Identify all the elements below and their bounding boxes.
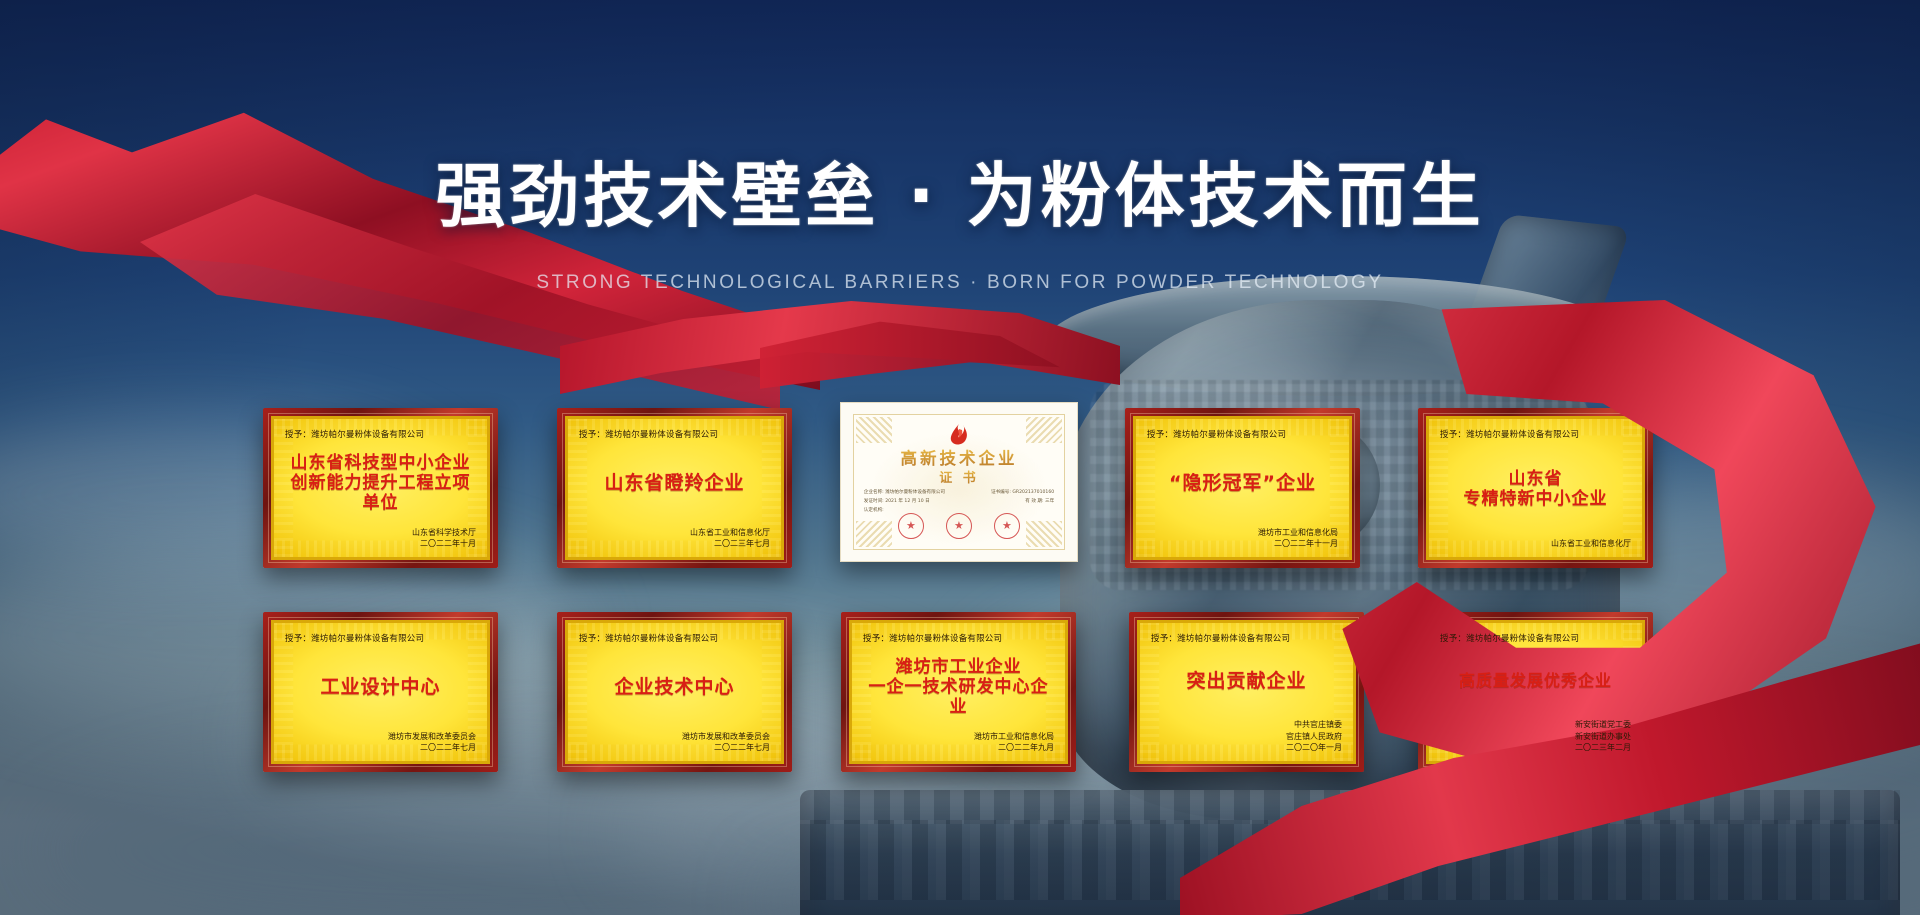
ornament-corner-icon (856, 417, 892, 443)
plaque-title-line: 一企一技术研发中心企业 (863, 677, 1054, 717)
plaque-title-line: 企业技术中心 (579, 676, 770, 698)
certificate-subtitle: 证 书 (854, 467, 1064, 486)
plaque-title-line: 山东省 (1440, 469, 1631, 489)
plaque-title-line: 工业设计中心 (285, 676, 476, 698)
plaque-footer: 山东省工业和信息化厅 (1440, 538, 1631, 550)
plaque-issuer-secondary: 官庄镇人民政府 (1151, 731, 1342, 743)
plaque-title-line: “隐形冠军”企业 (1147, 472, 1338, 494)
plaque-title: 山东省科技型中小企业 创新能力提升工程立项单位 (285, 453, 476, 513)
plaque-frame: 授予：潍坊帕尔曼粉体设备有限公司 山东省 专精特新中小企业 山东省工业和信息化厅 (1418, 408, 1653, 568)
field-label: 证书编号: (991, 490, 1011, 495)
plaque-issuer: 潍坊市工业和信息化局 (1147, 527, 1338, 539)
plaque-title: 高质量发展优秀企业 (1440, 672, 1631, 691)
plaque-frame: 授予：潍坊帕尔曼粉体设备有限公司 山东省科技型中小企业 创新能力提升工程立项单位… (263, 408, 498, 568)
plaque-face: 授予：潍坊帕尔曼粉体设备有限公司 工业设计中心 潍坊市发展和改革委员会 二〇二二… (271, 620, 490, 764)
plaque-industrial-design-center[interactable]: 授予：潍坊帕尔曼粉体设备有限公司 工业设计中心 潍坊市发展和改革委员会 二〇二二… (263, 612, 498, 772)
plaque-footer: 山东省科学技术厅 二〇二二年十月 (285, 527, 476, 550)
plaque-award-label: 授予：潍坊帕尔曼粉体设备有限公司 (579, 428, 770, 440)
red-seal-icon: ★ (946, 513, 972, 539)
plaque-footer: 山东省工业和信息化厅 二〇二三年七月 (579, 527, 770, 550)
plaque-date: 二〇二二年十月 (285, 538, 476, 550)
certificate-inner: 高新技术企业 证 书 企业名称: 潍坊帕尔曼粉体设备有限公司 证书编号: GR2… (853, 414, 1065, 550)
plaque-title-line: 山东省科技型中小企业 (285, 453, 476, 473)
plaque-award-label: 授予：潍坊帕尔曼粉体设备有限公司 (1440, 632, 1631, 644)
plaque-issuer: 中共官庄镇委 (1151, 719, 1342, 731)
plaque-title: 企业技术中心 (579, 676, 770, 698)
plaque-date: 二〇二二年七月 (579, 742, 770, 754)
plaque-footer: 潍坊市工业和信息化局 二〇二二年十一月 (1147, 527, 1338, 550)
plaque-face: 授予：潍坊帕尔曼粉体设备有限公司 “隐形冠军”企业 潍坊市工业和信息化局 二〇二… (1133, 416, 1352, 560)
plaque-one-enterprise-one-tech-rd-center[interactable]: 授予：潍坊帕尔曼粉体设备有限公司 潍坊市工业企业 一企一技术研发中心企业 潍坊市… (841, 612, 1076, 772)
certificate-seals: ★ ★ ★ (854, 513, 1064, 539)
certificate-fields: 企业名称: 潍坊帕尔曼粉体设备有限公司 证书编号: GR202137010160… (864, 489, 1054, 515)
plaque-frame: 授予：潍坊帕尔曼粉体设备有限公司 企业技术中心 潍坊市发展和改革委员会 二〇二二… (557, 612, 792, 772)
plaque-face: 授予：潍坊帕尔曼粉体设备有限公司 山东省瞪羚企业 山东省工业和信息化厅 二〇二三… (565, 416, 784, 560)
plaque-title: 山东省 专精特新中小企业 (1440, 469, 1631, 509)
plaque-award-label: 授予：潍坊帕尔曼粉体设备有限公司 (1151, 632, 1342, 644)
plaque-date: 二〇二二年七月 (285, 742, 476, 754)
field-label: 发证时间: (864, 499, 884, 504)
page-title: 强劲技术壁垒 · 为粉体技术而生 (0, 140, 1920, 241)
plaque-issuer: 潍坊市发展和改革委员会 (285, 731, 476, 743)
plaque-frame: 授予：潍坊帕尔曼粉体设备有限公司 “隐形冠军”企业 潍坊市工业和信息化局 二〇二… (1125, 408, 1360, 568)
plaque-issuer: 潍坊市发展和改革委员会 (579, 731, 770, 743)
plaque-frame: 授予：潍坊帕尔曼粉体设备有限公司 潍坊市工业企业 一企一技术研发中心企业 潍坊市… (841, 612, 1076, 772)
plaque-award-label: 授予：潍坊帕尔曼粉体设备有限公司 (285, 428, 476, 440)
red-seal-icon: ★ (994, 513, 1020, 539)
high-tech-enterprise-certificate[interactable]: 高新技术企业 证 书 企业名称: 潍坊帕尔曼粉体设备有限公司 证书编号: GR2… (840, 402, 1078, 562)
plaque-title-line: 突出贡献企业 (1151, 670, 1342, 692)
plaque-title: 突出贡献企业 (1151, 670, 1342, 692)
plaque-face: 授予：潍坊帕尔曼粉体设备有限公司 山东省 专精特新中小企业 山东省工业和信息化厅 (1426, 416, 1645, 560)
plaque-date: 二〇二三年二月 (1440, 742, 1631, 754)
field-value: 三年 (1045, 499, 1054, 504)
ornament-corner-icon (1026, 417, 1062, 443)
plaque-footer: 新安街道党工委 新安街道办事处 二〇二三年二月 (1440, 719, 1631, 754)
plaque-face: 授予：潍坊帕尔曼粉体设备有限公司 突出贡献企业 中共官庄镇委 官庄镇人民政府 二… (1137, 620, 1356, 764)
plaque-title-line: 专精特新中小企业 (1440, 489, 1631, 509)
plaque-award-label: 授予：潍坊帕尔曼粉体设备有限公司 (285, 632, 476, 644)
plaque-date: 二〇二三年七月 (579, 538, 770, 550)
plaque-issuer-secondary: 新安街道办事处 (1440, 731, 1631, 743)
plaque-frame: 授予：潍坊帕尔曼粉体设备有限公司 山东省瞪羚企业 山东省工业和信息化厅 二〇二三… (557, 408, 792, 568)
plaque-title: “隐形冠军”企业 (1147, 472, 1338, 494)
plaque-title: 工业设计中心 (285, 676, 476, 698)
plaque-face: 授予：潍坊帕尔曼粉体设备有限公司 潍坊市工业企业 一企一技术研发中心企业 潍坊市… (849, 620, 1068, 764)
certificate-title: 高新技术企业 (854, 445, 1064, 469)
plaque-title: 潍坊市工业企业 一企一技术研发中心企业 (863, 657, 1054, 717)
plaque-award-label: 授予：潍坊帕尔曼粉体设备有限公司 (1440, 428, 1631, 440)
field-value: 潍坊帕尔曼粉体设备有限公司 (885, 490, 945, 495)
plaque-footer: 潍坊市工业和信息化局 二〇二二年九月 (863, 731, 1054, 754)
field-label: 企业名称: (864, 490, 884, 495)
plaque-footer: 潍坊市发展和改革委员会 二〇二二年七月 (285, 731, 476, 754)
plaque-face: 授予：潍坊帕尔曼粉体设备有限公司 山东省科技型中小企业 创新能力提升工程立项单位… (271, 416, 490, 560)
plaque-issuer: 山东省科学技术厅 (285, 527, 476, 539)
banner-stage: 强劲技术壁垒 · 为粉体技术而生 STRONG TECHNOLOGICAL BA… (0, 0, 1920, 915)
plaque-face: 授予：潍坊帕尔曼粉体设备有限公司 企业技术中心 潍坊市发展和改革委员会 二〇二二… (565, 620, 784, 764)
plaque-frame: 授予：潍坊帕尔曼粉体设备有限公司 工业设计中心 潍坊市发展和改革委员会 二〇二二… (263, 612, 498, 772)
plaque-outstanding-contribution-enterprise[interactable]: 授予：潍坊帕尔曼粉体设备有限公司 突出贡献企业 中共官庄镇委 官庄镇人民政府 二… (1129, 612, 1364, 772)
plaque-footer: 中共官庄镇委 官庄镇人民政府 二〇二〇年一月 (1151, 719, 1342, 754)
plaque-issuer: 山东省工业和信息化厅 (1440, 538, 1631, 550)
plaque-issuer: 潍坊市工业和信息化局 (863, 731, 1054, 743)
plaque-sd-sci-tech-sme[interactable]: 授予：潍坊帕尔曼粉体设备有限公司 山东省科技型中小企业 创新能力提升工程立项单位… (263, 408, 498, 568)
field-value: 2021 年 12 月 10 日 (885, 499, 929, 504)
plaque-enterprise-tech-center[interactable]: 授予：潍坊帕尔曼粉体设备有限公司 企业技术中心 潍坊市发展和改革委员会 二〇二二… (557, 612, 792, 772)
field-value: GR202137010160 (1012, 490, 1054, 495)
plaque-date: 二〇二二年十一月 (1147, 538, 1338, 550)
plaque-title-line: 潍坊市工业企业 (863, 657, 1054, 677)
red-seal-icon: ★ (898, 513, 924, 539)
plaque-award-label: 授予：潍坊帕尔曼粉体设备有限公司 (1147, 428, 1338, 440)
plaque-title-line: 创新能力提升工程立项单位 (285, 473, 476, 513)
field-label: 有 效 期: (1025, 499, 1043, 504)
plaque-title: 山东省瞪羚企业 (579, 472, 770, 494)
field-label: 认定机构: (864, 508, 884, 513)
plaque-frame: 授予：潍坊帕尔曼粉体设备有限公司 突出贡献企业 中共官庄镇委 官庄镇人民政府 二… (1129, 612, 1364, 772)
plaque-award-label: 授予：潍坊帕尔曼粉体设备有限公司 (579, 632, 770, 644)
plaque-award-label: 授予：潍坊帕尔曼粉体设备有限公司 (863, 632, 1054, 644)
plaque-date: 二〇二〇年一月 (1151, 742, 1342, 754)
plaque-footer: 潍坊市发展和改革委员会 二〇二二年七月 (579, 731, 770, 754)
plaque-sd-specialized-sme[interactable]: 授予：潍坊帕尔曼粉体设备有限公司 山东省 专精特新中小企业 山东省工业和信息化厅 (1418, 408, 1653, 568)
plaque-title-line: 山东省瞪羚企业 (579, 472, 770, 494)
plaque-issuer: 新安街道党工委 (1440, 719, 1631, 731)
plaque-issuer: 山东省工业和信息化厅 (579, 527, 770, 539)
plaque-hidden-champion[interactable]: 授予：潍坊帕尔曼粉体设备有限公司 “隐形冠军”企业 潍坊市工业和信息化局 二〇二… (1125, 408, 1360, 568)
plaque-date: 二〇二二年九月 (863, 742, 1054, 754)
page-subtitle: STRONG TECHNOLOGICAL BARRIERS · BORN FOR… (0, 272, 1920, 294)
plaque-sd-gazelle-enterprise[interactable]: 授予：潍坊帕尔曼粉体设备有限公司 山东省瞪羚企业 山东省工业和信息化厅 二〇二三… (557, 408, 792, 568)
plaque-title-line: 高质量发展优秀企业 (1440, 672, 1631, 691)
